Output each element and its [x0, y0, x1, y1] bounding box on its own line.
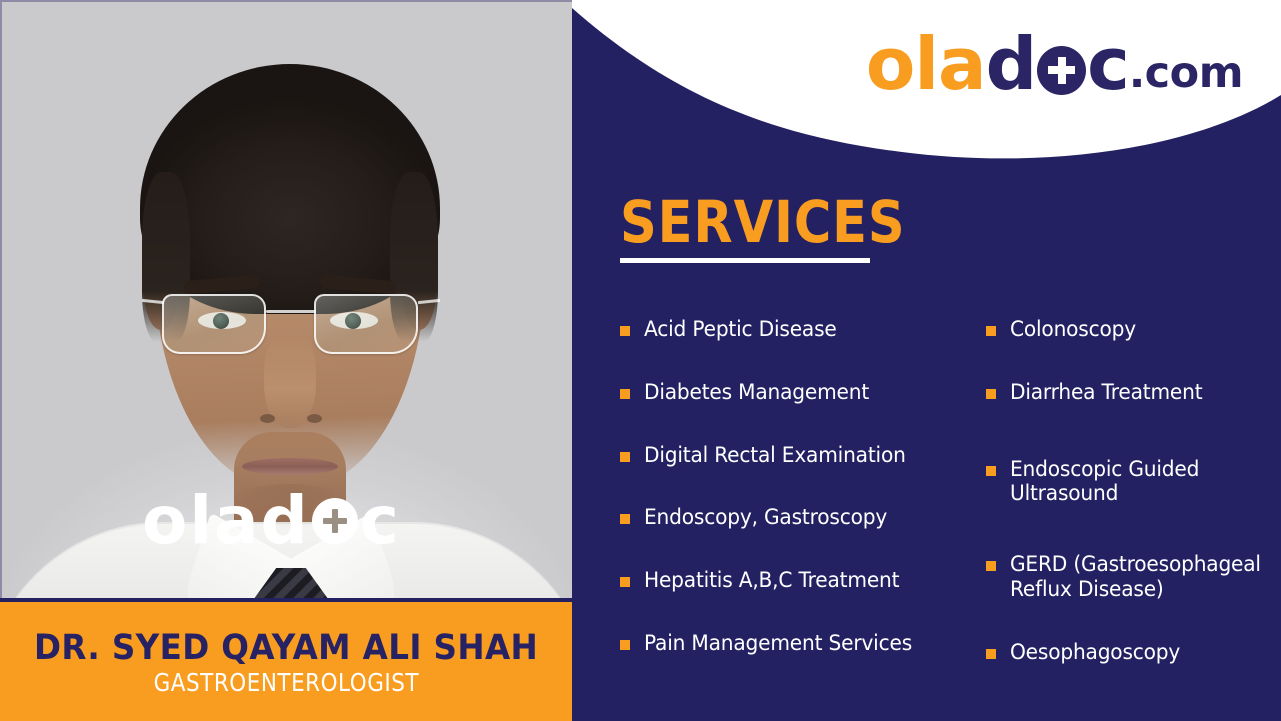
watermark-text-left: olad: [142, 488, 310, 554]
bullet-square-icon: [620, 326, 630, 336]
service-item: Digital Rectal Examination: [620, 443, 968, 468]
eyeglass-lens-left: [162, 294, 266, 354]
portrait-nose: [264, 332, 316, 428]
services-heading-underline: [620, 258, 870, 263]
services-heading: SERVICES: [620, 193, 906, 251]
services-column-left: Acid Peptic Disease Diabetes Management …: [620, 305, 968, 685]
bullet-square-icon: [986, 561, 996, 571]
portrait-nostril-right: [307, 414, 322, 423]
photo-watermark: olad c: [142, 488, 401, 554]
service-label: Endoscopic Guided Ultrasound: [1010, 457, 1275, 507]
eyeglass-bridge: [266, 310, 316, 313]
doctor-photo: olad c: [0, 0, 572, 598]
service-label: Acid Peptic Disease: [644, 317, 837, 342]
portrait-mouth: [242, 458, 338, 475]
service-label: Digital Rectal Examination: [644, 443, 906, 468]
service-item: Endoscopy, Gastroscopy: [620, 505, 968, 530]
photo-backdrop: olad c: [2, 2, 572, 598]
service-item: Pain Management Services: [620, 631, 968, 656]
doctor-name: DR. SYED QAYAM ALI SHAH: [34, 630, 538, 667]
service-label: Colonoscopy: [1010, 317, 1136, 342]
service-item: Diabetes Management: [620, 380, 968, 405]
service-item: GERD (Gastroesophageal Reflux Disease): [986, 552, 1281, 602]
oladoc-logo[interactable]: ola d c .com: [866, 28, 1243, 100]
service-label: Pain Management Services: [644, 631, 912, 656]
service-label: Diarrhea Treatment: [1010, 380, 1202, 405]
doctor-profile-card: olad c DR. SYED QAYAM ALI SHAH GASTROENT…: [0, 0, 1281, 721]
logo-plus-circle-icon: [1037, 46, 1086, 95]
bullet-square-icon: [620, 389, 630, 399]
service-item: Acid Peptic Disease: [620, 317, 968, 342]
service-label: Oesophagoscopy: [1010, 640, 1180, 665]
eyeglass-lens-right: [314, 294, 418, 354]
services-column-right: Colonoscopy Diarrhea Treatment Endoscopi…: [986, 305, 1281, 685]
logo-text-d: d: [986, 28, 1037, 100]
service-item: Colonoscopy: [986, 317, 1281, 342]
service-item: Endoscopic Guided Ultrasound: [986, 457, 1281, 507]
service-item: Diarrhea Treatment: [986, 380, 1281, 405]
portrait-nostril-left: [260, 414, 275, 423]
bullet-square-icon: [620, 514, 630, 524]
bullet-square-icon: [620, 452, 630, 462]
logo-text-dotcom: .com: [1129, 52, 1243, 100]
watermark-text-right: c: [360, 488, 401, 554]
service-label: Hepatitis A,B,C Treatment: [644, 568, 899, 593]
bullet-square-icon: [986, 466, 996, 476]
service-label: GERD (Gastroesophageal Reflux Disease): [1010, 552, 1275, 602]
logo-text-c: c: [1087, 28, 1129, 100]
bullet-square-icon: [620, 640, 630, 650]
service-item: Hepatitis A,B,C Treatment: [620, 568, 968, 593]
bullet-square-icon: [986, 326, 996, 336]
service-label: Endoscopy, Gastroscopy: [644, 505, 887, 530]
service-label: Diabetes Management: [644, 380, 869, 405]
bullet-square-icon: [986, 649, 996, 659]
service-item: Oesophagoscopy: [986, 640, 1281, 665]
bullet-square-icon: [986, 389, 996, 399]
doctor-specialty: GASTROENTEROLOGIST: [153, 669, 418, 697]
logo-text-ola: ola: [866, 28, 986, 100]
watermark-plus-circle-icon: [312, 498, 358, 544]
services-list: Acid Peptic Disease Diabetes Management …: [620, 305, 1265, 685]
bullet-square-icon: [620, 577, 630, 587]
doctor-name-banner: DR. SYED QAYAM ALI SHAH GASTROENTEROLOGI…: [0, 602, 572, 721]
